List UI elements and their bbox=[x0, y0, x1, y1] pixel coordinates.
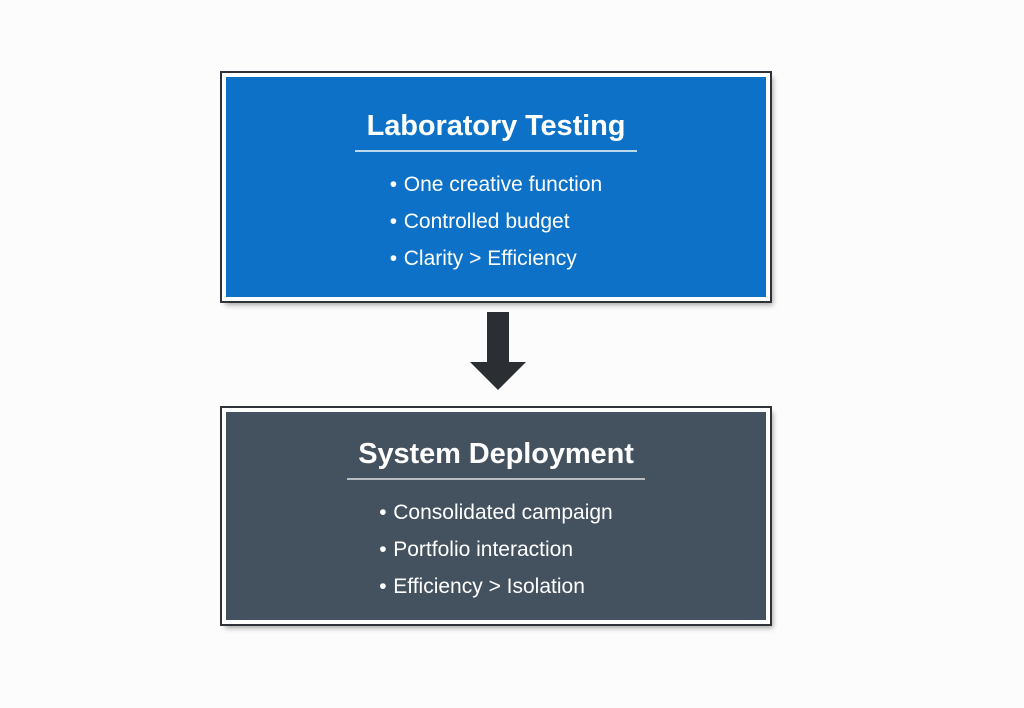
flow-node-title: System Deployment bbox=[358, 439, 634, 469]
flow-node-bullet-list: • Consolidated campaign • Portfolio inte… bbox=[379, 502, 612, 597]
list-item: • One creative function bbox=[390, 174, 602, 195]
bullet-label: Portfolio interaction bbox=[393, 539, 573, 560]
bullet-label: Controlled budget bbox=[404, 211, 570, 232]
arrow-down-icon bbox=[468, 312, 528, 390]
bullet-label: One creative function bbox=[404, 174, 602, 195]
title-underline-rule bbox=[347, 478, 645, 480]
bullet-point-icon: • bbox=[390, 248, 404, 269]
flow-node-body: Laboratory Testing • One creative functi… bbox=[226, 77, 766, 297]
title-underline-rule bbox=[355, 150, 637, 152]
bullet-point-icon: • bbox=[390, 174, 404, 195]
list-item: • Efficiency > Isolation bbox=[379, 576, 612, 597]
bullet-point-icon: • bbox=[379, 502, 393, 523]
bullet-point-icon: • bbox=[379, 539, 393, 560]
diagram-canvas: Laboratory Testing • One creative functi… bbox=[0, 0, 1024, 708]
bullet-point-icon: • bbox=[379, 576, 393, 597]
flow-node-body: System Deployment • Consolidated campaig… bbox=[226, 412, 766, 620]
list-item: • Consolidated campaign bbox=[379, 502, 612, 523]
arrow-down-shape bbox=[470, 312, 526, 390]
bullet-label: Efficiency > Isolation bbox=[393, 576, 585, 597]
flow-node-title: Laboratory Testing bbox=[367, 111, 626, 141]
list-item: • Clarity > Efficiency bbox=[390, 248, 602, 269]
bullet-point-icon: • bbox=[390, 211, 404, 232]
list-item: • Portfolio interaction bbox=[379, 539, 612, 560]
flow-node-bullet-list: • One creative function • Controlled bud… bbox=[390, 174, 602, 269]
list-item: • Controlled budget bbox=[390, 211, 602, 232]
flow-node-laboratory-testing[interactable]: Laboratory Testing • One creative functi… bbox=[220, 71, 772, 303]
flow-node-system-deployment[interactable]: System Deployment • Consolidated campaig… bbox=[220, 406, 772, 626]
bullet-label: Clarity > Efficiency bbox=[404, 248, 577, 269]
bullet-label: Consolidated campaign bbox=[393, 502, 612, 523]
